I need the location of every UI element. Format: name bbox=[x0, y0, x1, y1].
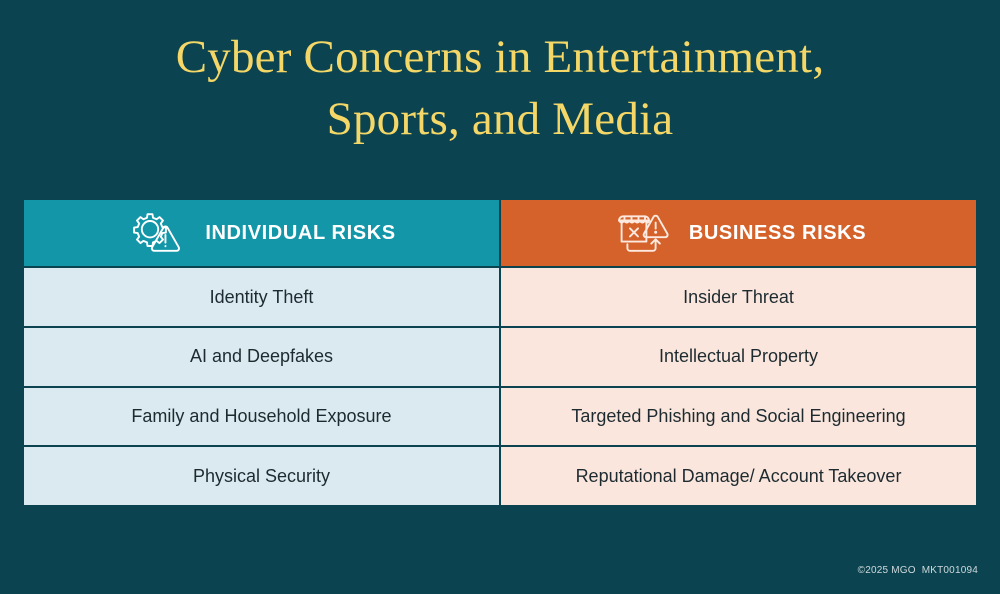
column-header-business-risks: BUSINESS RISKS bbox=[501, 200, 976, 266]
risk-comparison-table: INDIVIDUAL RISKS bbox=[24, 200, 976, 505]
table-header-row: INDIVIDUAL RISKS bbox=[24, 200, 976, 266]
page-title: Cyber Concerns in Entertainment, Sports,… bbox=[0, 26, 1000, 150]
table-row: Family and Household Exposure Targeted P… bbox=[24, 388, 976, 446]
slide-canvas: Cyber Concerns in Entertainment, Sports,… bbox=[0, 0, 1000, 594]
shop-warning-icon bbox=[611, 209, 675, 257]
column-header-label: BUSINESS RISKS bbox=[689, 222, 866, 245]
table-row: AI and Deepfakes Intellectual Property bbox=[24, 328, 976, 386]
risk-cell-individual: Family and Household Exposure bbox=[24, 388, 499, 446]
table-row: Identity Theft Insider Threat bbox=[24, 268, 976, 326]
risk-cell-individual: AI and Deepfakes bbox=[24, 328, 499, 386]
table-row: Physical Security Reputational Damage/ A… bbox=[24, 447, 976, 505]
risk-cell-business: Reputational Damage/ Account Takeover bbox=[501, 447, 976, 505]
risk-cell-business: Insider Threat bbox=[501, 268, 976, 326]
column-header-label: INDIVIDUAL RISKS bbox=[205, 222, 395, 245]
risk-cell-business: Intellectual Property bbox=[501, 328, 976, 386]
risk-cell-business: Targeted Phishing and Social Engineering bbox=[501, 388, 976, 446]
risk-cell-individual: Identity Theft bbox=[24, 268, 499, 326]
copyright-footer: ©2025 MGO MKT001094 bbox=[858, 565, 978, 576]
gear-warning-icon bbox=[127, 209, 191, 257]
risk-cell-individual: Physical Security bbox=[24, 447, 499, 505]
column-header-individual-risks: INDIVIDUAL RISKS bbox=[24, 200, 499, 266]
